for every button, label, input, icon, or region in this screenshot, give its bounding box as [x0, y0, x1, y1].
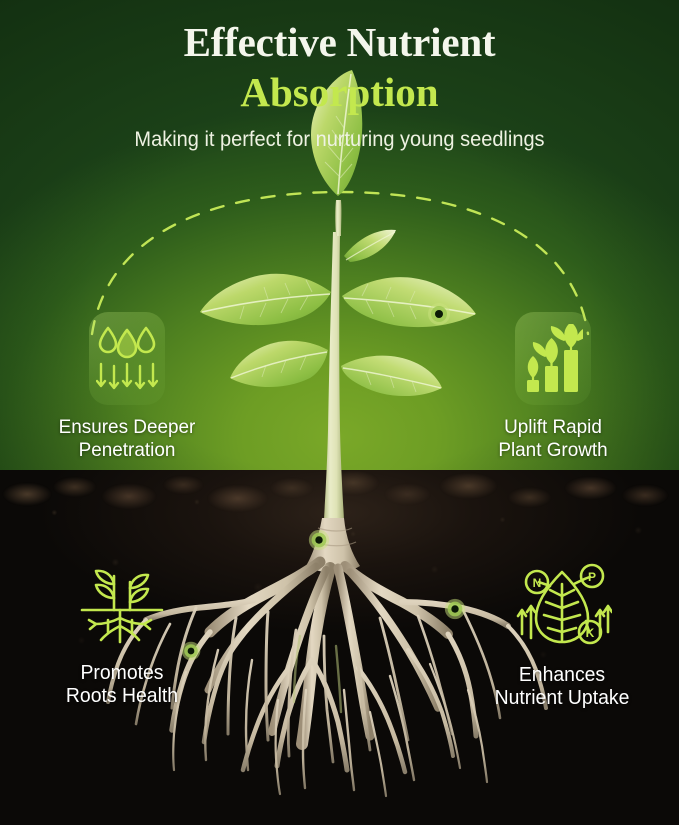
feature-label-line1: Uplift Rapid — [463, 416, 643, 439]
page-title-line2-accent: Absorption — [0, 63, 679, 113]
feature-icon-tile — [89, 312, 165, 405]
feature-label: Enhances Nutrient Uptake — [465, 664, 659, 711]
feature-promotes-roots-health[interactable]: Promotes Roots Health — [22, 562, 222, 709]
feature-label-line2: Nutrient Uptake — [465, 687, 659, 710]
water-droplets-down-arrows-icon — [96, 324, 158, 394]
feature-icon-tile — [515, 312, 591, 405]
page-subtitle: Making it perfect for nurturing young se… — [24, 113, 655, 151]
feature-label-line2: Plant Growth — [463, 439, 643, 462]
feature-label: Uplift Rapid Plant Growth — [463, 416, 643, 462]
nutrient-marker-dot — [307, 528, 331, 552]
npk-label-nitrogen: N — [533, 576, 542, 590]
feature-ensures-deeper-penetration[interactable]: Ensures Deeper Penetration — [34, 312, 220, 462]
feature-label-line1: Enhances — [465, 664, 659, 687]
feature-uplift-rapid-plant-growth[interactable]: Uplift Rapid Plant Growth — [460, 312, 646, 462]
growth-bars-plant-icon — [523, 324, 583, 394]
feature-label: Promotes Roots Health — [25, 662, 219, 709]
nutrient-marker-dot — [426, 301, 452, 327]
feature-label-line2: Roots Health — [25, 685, 219, 708]
nutrient-marker-dot-spacer — [313, 533, 314, 534]
feature-enhances-nutrient-uptake[interactable]: N P K Enhances Nutrient Uptake — [462, 562, 662, 711]
npk-label-phosphorus: P — [588, 570, 596, 584]
feature-label: Ensures Deeper Penetration — [37, 416, 217, 462]
npk-leaf-uptake-icon: N P K — [512, 562, 612, 650]
header-block: Effective Nutrient Absorption Making it … — [0, 0, 679, 151]
npk-label-potassium: K — [586, 626, 595, 640]
feature-label-line2: Penetration — [37, 439, 217, 462]
plant-with-roots-icon — [76, 562, 168, 648]
feature-label-line1: Promotes — [25, 662, 219, 685]
page-title-line1: Effective Nutrient — [0, 0, 679, 63]
feature-label-line1: Ensures Deeper — [37, 416, 217, 439]
infographic-poster: Effective Nutrient Absorption Making it … — [0, 0, 679, 825]
